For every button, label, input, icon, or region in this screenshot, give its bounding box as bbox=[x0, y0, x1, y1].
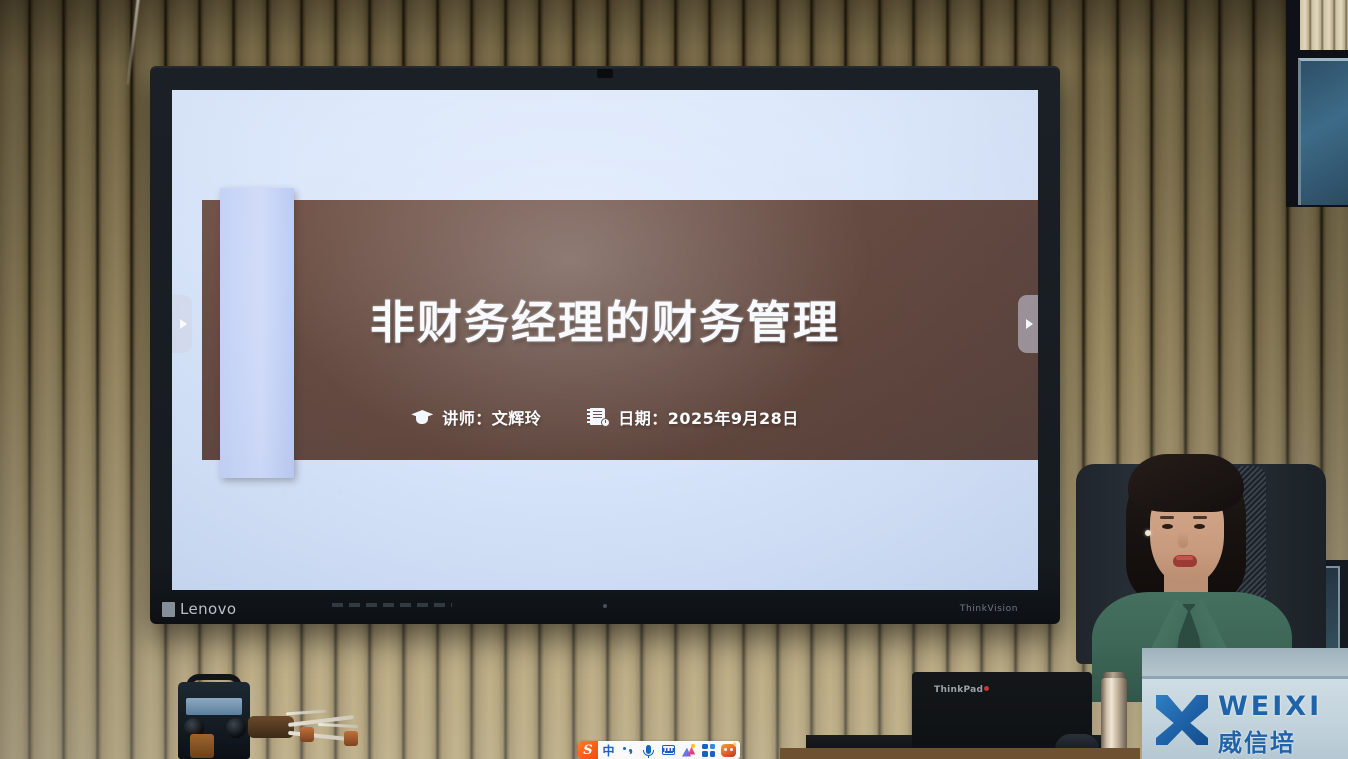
presentation-slide[interactable]: 非财务经理的财务管理 讲师：文辉玲 日期：2025年9月28日 · · · bbox=[172, 90, 1038, 590]
presenter-eye-right bbox=[1194, 524, 1205, 529]
presenter-brow-left bbox=[1160, 516, 1174, 519]
voice-input-button[interactable] bbox=[639, 742, 658, 759]
sogou-logo-button[interactable]: S bbox=[578, 741, 598, 759]
graduation-cap-icon bbox=[411, 407, 433, 427]
chevron-right-icon bbox=[1026, 319, 1033, 329]
weixin-brand-banner: WEIXI 威信培 bbox=[1142, 676, 1348, 759]
skin-theme-button[interactable] bbox=[679, 742, 698, 759]
banner-wall-top bbox=[1142, 648, 1348, 676]
chevron-left-icon bbox=[180, 319, 187, 329]
presenter-earring bbox=[1145, 530, 1151, 536]
camera-icon bbox=[597, 69, 613, 78]
thinkpad-logo-icon: ThinkPad bbox=[934, 685, 989, 695]
rc-stick-right[interactable] bbox=[226, 718, 246, 738]
weixin-chinese-text: 威信培 bbox=[1218, 723, 1322, 758]
slide-watermark: · · · bbox=[282, 485, 351, 499]
slide-meta-presenter: 讲师：文辉玲 bbox=[411, 405, 541, 429]
language-mode-button[interactable]: 中 bbox=[599, 742, 618, 759]
soft-keyboard-button[interactable] bbox=[659, 742, 678, 759]
expression-button[interactable]: ✦ bbox=[719, 742, 738, 759]
drone-body bbox=[248, 716, 294, 738]
presenter-fringe bbox=[1128, 454, 1244, 512]
thinkvision-model-label: ThinkVision bbox=[960, 604, 1018, 614]
drone-motor-1 bbox=[300, 727, 314, 742]
slide-prev-button[interactable] bbox=[172, 295, 192, 353]
presenter-nose bbox=[1178, 532, 1188, 548]
presenter-eye-left bbox=[1162, 524, 1173, 529]
slide-next-button[interactable] bbox=[1018, 295, 1038, 353]
drone-motor-2 bbox=[344, 731, 358, 746]
presenter-label: 讲师：文辉玲 bbox=[442, 405, 541, 429]
window-upper-slats bbox=[1300, 0, 1348, 50]
weixin-english-text: WEIXI bbox=[1218, 691, 1322, 722]
slide-title: 非财务经理的财务管理 bbox=[172, 286, 1038, 351]
rc-transmitter-screen bbox=[186, 698, 242, 715]
slide-meta-row: 讲师：文辉玲 日期：2025年9月28日 bbox=[172, 405, 1038, 429]
lecture-room-scene: 非财务经理的财务管理 讲师：文辉玲 日期：2025年9月28日 · · · bbox=[0, 0, 1348, 759]
date-label: 日期：2025年9月28日 bbox=[618, 405, 798, 429]
notebook-clock-icon bbox=[587, 407, 609, 427]
window-glass bbox=[1298, 58, 1348, 205]
thermos-flask bbox=[1101, 678, 1127, 759]
weixin-logo-icon bbox=[1156, 695, 1208, 745]
drone-landing-gear bbox=[190, 734, 214, 758]
lenovo-logo-icon bbox=[162, 602, 175, 617]
right-window-panel bbox=[1286, 0, 1348, 207]
desk-front-edge bbox=[780, 748, 1140, 759]
sogou-ime-toolbar[interactable]: S 中 ✦ bbox=[578, 741, 740, 759]
lenovo-brand-label: Lenovo bbox=[162, 600, 236, 618]
punctuation-mode-button[interactable] bbox=[619, 742, 638, 759]
bezel-indicator-dot bbox=[603, 604, 607, 608]
bezel-vent-strip bbox=[332, 603, 452, 607]
presenter-mouth-highlight bbox=[1176, 556, 1193, 560]
weixin-brand-text: WEIXI 威信培 bbox=[1218, 691, 1322, 758]
slide-meta-date: 日期：2025年9月28日 bbox=[587, 405, 798, 429]
interactive-flat-panel-display[interactable]: 非财务经理的财务管理 讲师：文辉玲 日期：2025年9月28日 · · · bbox=[150, 66, 1060, 624]
presenter-brow-right bbox=[1193, 516, 1207, 519]
toolbox-button[interactable] bbox=[699, 742, 718, 759]
